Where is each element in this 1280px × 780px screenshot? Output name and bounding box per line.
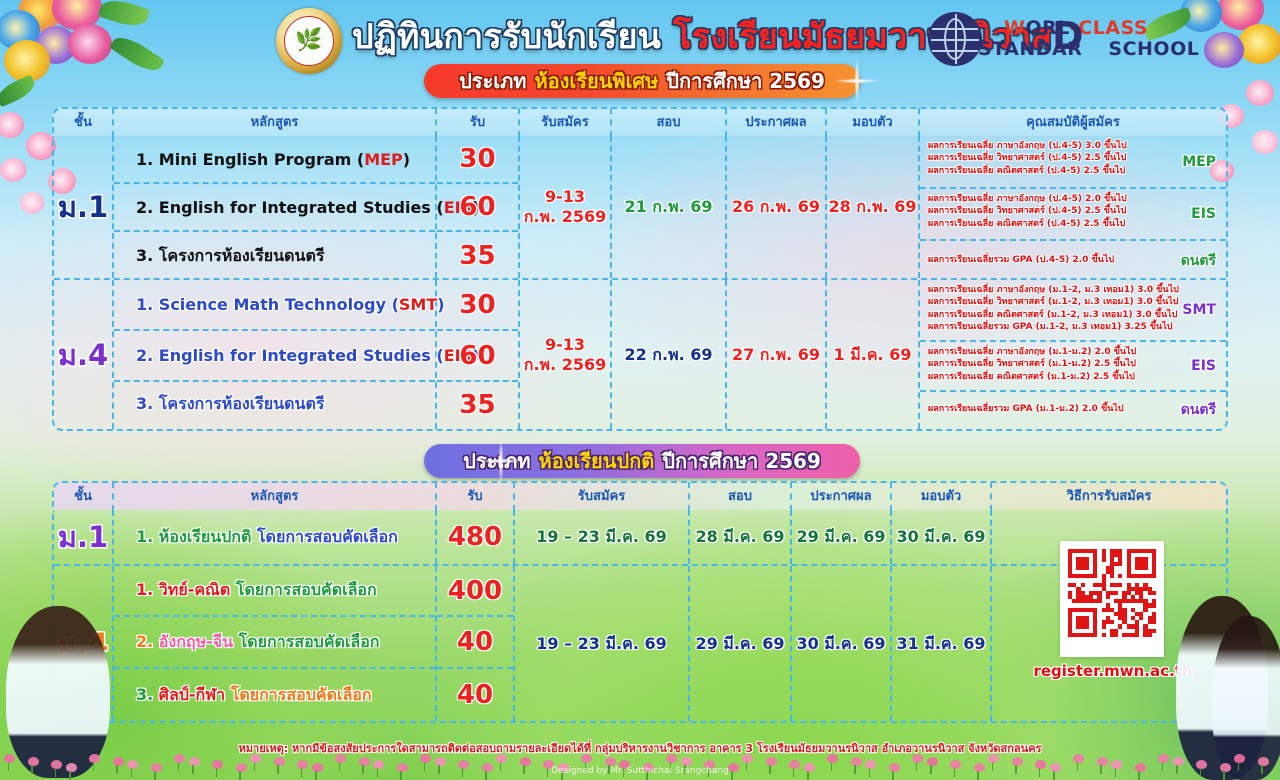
registration-qr-code[interactable] <box>1060 541 1164 657</box>
quota-value: 35 <box>459 241 495 271</box>
apply-date-cell: 19 – 23 มี.ค. 69 <box>515 566 690 721</box>
course-name: English for Integrated Studies ( <box>159 346 444 365</box>
qualification-cell: ผลการเรียนเฉลี่ย ภาษาอังกฤษ (ป.4-5) 2.0 … <box>920 189 1226 241</box>
header-report: มอบตัว <box>827 108 920 137</box>
course-label: 2. English for Integrated Studies (EIS) <box>114 346 435 365</box>
course-column-m4: 1. Science Math Technology (SMT) 2. Engl… <box>114 280 437 429</box>
course-number: 2. <box>136 632 153 651</box>
apply-date-value: 19 – 23 มี.ค. 69 <box>536 634 666 654</box>
course-cell: 1. วิทย์-คณิต โดยการสอบคัดเลือก <box>114 566 435 617</box>
school-crest-icon: 🌿 <box>276 8 342 74</box>
course-label: 1. ห้องเรียนปกติ โดยการสอบคัดเลือก <box>114 525 435 550</box>
course-name: โครงการห้องเรียนดนตรี <box>159 394 325 413</box>
qualification-line: ผลการเรียนเฉลี่ยรวม GPA (ม.1-2, ม.3 เทอม… <box>928 321 1226 333</box>
course-number: 1. <box>136 150 153 169</box>
register-url[interactable]: register.mwn.ac.th <box>1028 662 1198 680</box>
course-label: 3. ศิลป์-กีฬา โดยการสอบคัดเลือก <box>114 683 435 708</box>
header-apply: รับสมัคร <box>515 482 690 511</box>
course-method: โดยการสอบคัดเลือก <box>239 632 380 651</box>
banner-special-highlight: ห้องเรียนพิเศษ <box>534 65 658 97</box>
report-date-cell: 28 ก.พ. 69 <box>827 136 920 278</box>
header-level: ชั้น <box>54 482 114 511</box>
course-method: โดยการสอบคัดเลือก <box>231 685 372 704</box>
header-quota: รับ <box>437 482 515 511</box>
page-title-main: ปฏิทินการรับนักเรียน <box>352 9 661 63</box>
course-cell: 1. ห้องเรียนปกติ โดยการสอบคัดเลือก <box>114 510 437 564</box>
course-name: อังกฤษ-จีน <box>159 632 233 651</box>
quota-cell: 35 <box>437 232 518 280</box>
course-cell: 3. โครงการห้องเรียนดนตรี <box>114 382 435 427</box>
header-course: หลักสูตร <box>114 482 437 511</box>
report-date-cell: 30 มี.ค. 69 <box>892 510 992 564</box>
globe-icon <box>928 12 982 66</box>
qualification-cell: ผลการเรียนเฉลี่ย ภาษาอังกฤษ (ม.1-ม.2) 2.… <box>920 342 1226 392</box>
qualification-line: ผลการเรียนเฉลี่ย ภาษาอังกฤษ (ม.1-ม.2) 2.… <box>928 346 1226 358</box>
qualification-line: ผลการเรียนเฉลี่ย วิทยาศาสตร์ (ม.1-2, ม.3… <box>928 296 1226 308</box>
announce-date-value: 29 มี.ค. 69 <box>796 527 885 547</box>
course-number: 1. <box>136 580 153 599</box>
announce-date-value: 27 ก.พ. 69 <box>732 345 820 365</box>
program-tag: MEP <box>1182 154 1216 170</box>
special-table-header: ชั้น หลักสูตร รับ รับสมัคร สอบ ประกาศผล … <box>52 107 1228 136</box>
table-row: ม.4 1. วิทย์-คณิต โดยการสอบคัดเลือก 2. อ… <box>54 566 1226 721</box>
announce-date-value: 26 ก.พ. 69 <box>732 197 820 217</box>
course-cell: 2. อังกฤษ-จีน โดยการสอบคัดเลือก <box>114 617 435 669</box>
normal-table-body: ม.1 1. ห้องเรียนปกติ โดยการสอบคัดเลือก 4… <box>52 510 1228 723</box>
course-cell: 3. โครงการห้องเรียนดนตรี <box>114 232 435 280</box>
qualifications-column-m4: ผลการเรียนเฉลี่ย ภาษาอังกฤษ (ม.1-2, ม.3 … <box>920 280 1226 429</box>
report-date-value: 30 มี.ค. 69 <box>896 527 985 547</box>
course-label: 1. Science Math Technology (SMT) <box>114 295 435 314</box>
apply-date-value: 9-13 ก.พ. 2569 <box>524 335 607 375</box>
quota-value: 40 <box>457 680 493 710</box>
qualification-cell: ผลการเรียนเฉลี่ยรวม GPA (ป.4-5) 2.0 ขึ้น… <box>920 241 1226 280</box>
course-method: โดยการสอบคัดเลือก <box>236 580 377 599</box>
announce-date-cell: 29 มี.ค. 69 <box>792 510 892 564</box>
announce-date-cell: 26 ก.พ. 69 <box>727 136 827 278</box>
header-qualifications: คุณสมบัติผู้สมัคร <box>920 108 1226 137</box>
table-row: ม.1 1. Mini English Program (MEP) 2. Eng… <box>54 136 1226 280</box>
quota-value: 60 <box>459 192 495 222</box>
program-tag: EIS <box>1191 206 1216 222</box>
level-cell-m4: ม.4 <box>54 280 114 429</box>
level-label: ม.4 <box>58 332 108 378</box>
qualification-line: ผลการเรียนเฉลี่ย วิทยาศาสตร์ (ป.4-5) 2.5… <box>928 205 1226 217</box>
qualifications-column-m1: ผลการเรียนเฉลี่ย ภาษาอังกฤษ (ป.4-5) 3.0 … <box>920 136 1226 278</box>
course-paren: ) <box>403 150 410 169</box>
quota-cell: 480 <box>437 510 515 564</box>
course-name: ห้องเรียนปกติ <box>159 527 252 546</box>
quota-column-m4: 30 60 35 <box>437 280 520 429</box>
report-date-cell: 31 มี.ค. 69 <box>892 566 992 721</box>
announce-date-cell: 27 ก.พ. 69 <box>727 280 827 429</box>
page-title: ปฏิทินการรับนักเรียน โรงเรียนมัธยมวานรนิ… <box>352 10 932 62</box>
course-number: 2. <box>136 198 153 217</box>
course-number: 3. <box>136 685 153 704</box>
course-tag: MEP <box>364 150 403 169</box>
world-class-standard-school-logo: WORL-CLASS STANDARSCHOOL D <box>928 8 1114 70</box>
qualification-line: ผลการเรียนเฉลี่ย คณิตศาสตร์ (ม.1-ม.2) 2.… <box>928 371 1226 383</box>
course-tag: SMT <box>399 295 437 314</box>
qualification-line: ผลการเรียนเฉลี่ย คณิตศาสตร์ (ป.4-5) 2.5 … <box>928 218 1226 230</box>
footer-note: หมายเหตุ: หากมีข้อสงสัยประการใดสามารถติด… <box>0 739 1280 757</box>
quota-cell: 400 <box>437 566 513 617</box>
quota-value: 30 <box>459 144 495 174</box>
quota-cell: 60 <box>437 184 518 232</box>
course-label: 2. อังกฤษ-จีน โดยการสอบคัดเลือก <box>114 630 435 655</box>
course-number: 1. <box>136 527 153 546</box>
level-cell-m1: ม.1 <box>54 136 114 278</box>
wcss-school: SCHOOL <box>1108 38 1199 60</box>
wcss-d-letter: D <box>1052 17 1084 55</box>
course-label: 2. English for Integrated Studies (EIS) <box>114 198 435 217</box>
special-program-table: ชั้น หลักสูตร รับ รับสมัคร สอบ ประกาศผล … <box>52 107 1228 431</box>
exam-date-cell: 28 มี.ค. 69 <box>690 510 792 564</box>
program-tag: ดนตรี <box>1181 399 1216 421</box>
announce-date-cell: 30 มี.ค. 69 <box>792 566 892 721</box>
quota-value: 35 <box>459 390 495 420</box>
quota-cell: 40 <box>437 669 513 721</box>
course-column-m4: 1. วิทย์-คณิต โดยการสอบคัดเลือก 2. อังกฤ… <box>114 566 437 721</box>
apply-date-cell: 19 – 23 มี.ค. 69 <box>515 510 690 564</box>
table-row: ม.4 1. Science Math Technology (SMT) 2. … <box>54 280 1226 429</box>
qualification-cell: ผลการเรียนเฉลี่ย ภาษาอังกฤษ (ป.4-5) 3.0 … <box>920 136 1226 189</box>
course-name: Science Math Technology ( <box>159 295 399 314</box>
quota-cell: 60 <box>437 331 518 382</box>
qualification-line: ผลการเรียนเฉลี่ย วิทยาศาสตร์ (ม.1-ม.2) 2… <box>928 358 1226 370</box>
exam-date-cell: 22 ก.พ. 69 <box>612 280 727 429</box>
header-report: มอบตัว <box>892 482 992 511</box>
program-tag: SMT <box>1182 302 1216 318</box>
header-exam: สอบ <box>690 482 792 511</box>
qualification-line: ผลการเรียนเฉลี่ย ภาษาอังกฤษ (ป.4-5) 3.0 … <box>928 140 1226 152</box>
banner-special-pre: ประเภท <box>459 65 526 97</box>
quota-cell: 40 <box>437 617 513 669</box>
quota-value: 60 <box>459 341 495 371</box>
course-name: ศิลป์-กีฬา <box>159 685 225 704</box>
qualification-line: ผลการเรียนเฉลี่ย คณิตศาสตร์ (ม.1-2, ม.3 … <box>928 309 1226 321</box>
header-level: ชั้น <box>54 108 114 137</box>
quota-column-m1: 30 60 35 <box>437 136 520 278</box>
quota-cell: 35 <box>437 382 518 427</box>
apply-date-value: 19 – 23 มี.ค. 69 <box>536 527 666 547</box>
banner-normal-highlight: ห้องเรียนปกติ <box>539 445 655 477</box>
course-label: 1. Mini English Program (MEP) <box>114 150 435 169</box>
exam-date-cell: 29 มี.ค. 69 <box>690 566 792 721</box>
course-number: 3. <box>136 246 153 265</box>
exam-date-value: 22 ก.พ. 69 <box>624 345 712 365</box>
level-label: ม.1 <box>58 184 108 230</box>
apply-date-cell: 9-13 ก.พ. 2569 <box>520 136 612 278</box>
banner-normal-pre: ประเภท <box>463 445 530 477</box>
normal-table-header: ชั้น หลักสูตร รับ รับสมัคร สอบ ประกาศผล … <box>52 481 1228 510</box>
header-announce: ประกาศผล <box>727 108 827 137</box>
quota-value: 480 <box>448 522 502 552</box>
quota-cell: 30 <box>437 280 518 331</box>
qualification-line: ผลการเรียนเฉลี่ย ภาษาอังกฤษ (ป.4-5) 2.0 … <box>928 193 1226 205</box>
header-apply: รับสมัคร <box>520 108 612 137</box>
exam-date-cell: 21 ก.พ. 69 <box>612 136 727 278</box>
course-number: 2. <box>136 346 153 365</box>
course-label: 3. โครงการห้องเรียนดนตรี <box>114 392 435 417</box>
course-cell: 1. Mini English Program (MEP) <box>114 136 435 184</box>
exam-date-value: 29 มี.ค. 69 <box>695 634 784 654</box>
course-cell: 1. Science Math Technology (SMT) <box>114 280 435 331</box>
header-quota: รับ <box>437 108 520 137</box>
banner-normal-program: ประเภท ห้องเรียนปกติ ปีการศึกษา 2569 <box>424 444 860 478</box>
qualification-cell: ผลการเรียนเฉลี่ย ภาษาอังกฤษ (ม.1-2, ม.3 … <box>920 280 1226 342</box>
apply-date-cell: 9-13 ก.พ. 2569 <box>520 280 612 429</box>
course-method: โดยการสอบคัดเลือก <box>257 527 398 546</box>
banner-normal-post: ปีการศึกษา 2569 <box>662 445 821 477</box>
program-tag: EIS <box>1191 358 1216 374</box>
report-date-cell: 1 มี.ค. 69 <box>827 280 920 429</box>
table-row: ม.1 1. ห้องเรียนปกติ โดยการสอบคัดเลือก 4… <box>54 510 1226 566</box>
course-name: โครงการห้องเรียนดนตรี <box>159 246 325 265</box>
course-name: Mini English Program ( <box>159 150 364 169</box>
report-date-value: 31 มี.ค. 69 <box>896 634 985 654</box>
exam-date-value: 21 ก.พ. 69 <box>624 197 712 217</box>
banner-special-program: ประเภท ห้องเรียนพิเศษ ปีการศึกษา 2569 <box>424 64 860 98</box>
apply-date-value: 9-13 ก.พ. 2569 <box>524 187 607 227</box>
qualification-line: ผลการเรียนเฉลี่ยรวม GPA (ป.4-5) 2.0 ขึ้น… <box>928 254 1114 266</box>
report-date-value: 28 ก.พ. 69 <box>828 197 916 217</box>
quota-value: 30 <box>459 290 495 320</box>
level-cell-m1: ม.1 <box>54 510 114 564</box>
quota-column-m4: 400 40 40 <box>437 566 515 721</box>
course-column-m1: 1. Mini English Program (MEP) 2. English… <box>114 136 437 278</box>
qualification-line: ผลการเรียนเฉลี่ยรวม GPA (ม.1-ม.2) 2.0 ขึ… <box>928 403 1124 415</box>
course-label: 1. วิทย์-คณิต โดยการสอบคัดเลือก <box>114 578 435 603</box>
course-number: 1. <box>136 295 153 314</box>
quota-value: 400 <box>448 576 502 606</box>
course-cell: 2. English for Integrated Studies (EIS) <box>114 331 435 382</box>
course-name: English for Integrated Studies ( <box>159 198 444 217</box>
course-cell: 3. ศิลป์-กีฬา โดยการสอบคัดเลือก <box>114 669 435 721</box>
level-label: ม.1 <box>58 514 108 560</box>
header-announce: ประกาศผล <box>792 482 892 511</box>
qualification-line: ผลการเรียนเฉลี่ย ภาษาอังกฤษ (ม.1-2, ม.3 … <box>928 284 1226 296</box>
header-course: หลักสูตร <box>114 108 437 137</box>
course-label: 3. โครงการห้องเรียนดนตรี <box>114 244 435 269</box>
quota-cell: 30 <box>437 136 518 184</box>
announce-date-value: 30 มี.ค. 69 <box>796 634 885 654</box>
designer-credit: Designed by Mr. Sutthichai Srangchang <box>0 766 1280 776</box>
header-exam: สอบ <box>612 108 727 137</box>
qr-matrix <box>1068 549 1156 637</box>
qualification-cell: ผลการเรียนเฉลี่ยรวม GPA (ม.1-ม.2) 2.0 ขึ… <box>920 392 1226 427</box>
banner-special-post: ปีการศึกษา 2569 <box>666 65 825 97</box>
quota-value: 40 <box>457 627 493 657</box>
special-table-body: ม.1 1. Mini English Program (MEP) 2. Eng… <box>52 136 1228 431</box>
wcss-w: W <box>1004 17 1025 39</box>
course-name: วิทย์-คณิต <box>159 580 230 599</box>
program-tag: ดนตรี <box>1181 250 1216 272</box>
exam-date-value: 28 มี.ค. 69 <box>695 527 784 547</box>
course-cell: 2. English for Integrated Studies (EIS) <box>114 184 435 232</box>
header-apply-method: วิธีการรับสมัคร <box>992 482 1226 511</box>
normal-program-table: ชั้น หลักสูตร รับ รับสมัคร สอบ ประกาศผล … <box>52 481 1228 723</box>
course-number: 3. <box>136 394 153 413</box>
report-date-value: 1 มี.ค. 69 <box>834 345 912 365</box>
